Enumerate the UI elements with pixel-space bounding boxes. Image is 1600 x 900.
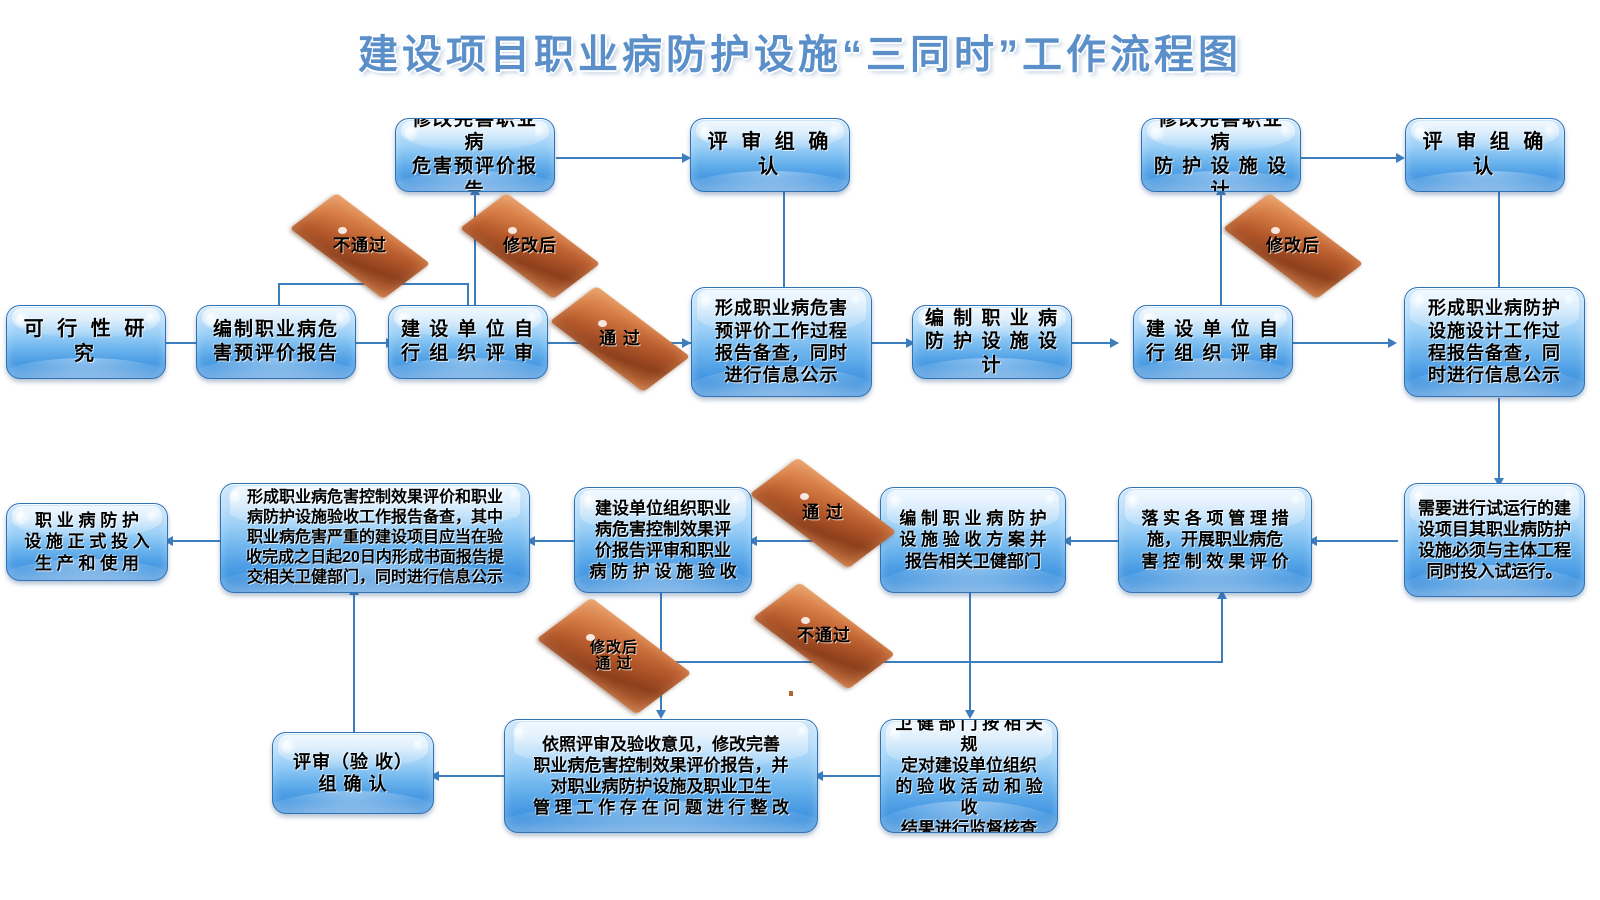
gloss-dot-icon bbox=[1292, 495, 1302, 505]
decision-label: 修改后 bbox=[503, 237, 557, 256]
gloss-dot-icon bbox=[1046, 495, 1056, 505]
gloss-dot-icon bbox=[890, 495, 903, 508]
node-feasibility[interactable]: 可 行 性 研 究 bbox=[6, 305, 166, 379]
connector-line bbox=[1301, 157, 1401, 159]
node-label: 职 业 病 防 护 设 施 正 式 投 入 生 产 和 使 用 bbox=[18, 510, 156, 573]
node-preassessment-archive[interactable]: 形成职业病危害 预评价工作过程 报告备查，同时 进行信息公示 bbox=[691, 287, 872, 397]
node-label: 可 行 性 研 究 bbox=[7, 317, 165, 367]
connector-line bbox=[1293, 342, 1395, 344]
node-label: 编 制 职 业 病 防 护 设 施 验 收 方 案 并 报告相关卫健部门 bbox=[893, 508, 1052, 571]
connector-line bbox=[783, 192, 785, 297]
node-label: 评 审 组 确 认 bbox=[691, 130, 849, 180]
decision-label: 通 过 bbox=[802, 504, 844, 523]
flowchart-canvas: 建设项目职业病防护设施“三同时”工作流程图 bbox=[0, 0, 1600, 900]
diamond-specular-icon bbox=[508, 227, 517, 234]
connector-line bbox=[818, 775, 880, 777]
node-label: 评 审 组 确 认 bbox=[1406, 130, 1564, 180]
node-label: 卫 健 部 门 按 相 关 规 定对建设单位组织 的 验 收 活 动 和 验 收… bbox=[881, 719, 1057, 833]
connector-line bbox=[969, 592, 971, 715]
connector-line bbox=[660, 661, 1223, 663]
gloss-dot-icon bbox=[1128, 495, 1141, 508]
node-org-acceptance[interactable]: 建设单位组织职业 病危害控制效果评 价报告评审和职业 病 防 护 设 施 验 收 bbox=[574, 487, 752, 593]
node-label: 建 设 单 位 自 行 组 织 评 审 bbox=[395, 318, 541, 365]
decision-pass-2[interactable]: 通 过 bbox=[762, 483, 884, 543]
arrow-head bbox=[965, 710, 975, 719]
arrow-head bbox=[1388, 338, 1397, 348]
node-design-archive[interactable]: 形成职业病防护 设施设计工作过 程报告备查，同 时进行信息公示 bbox=[1404, 287, 1585, 397]
node-label: 形成职业病危害控制效果评价和职业 病防护设施验收工作报告备查，其中 职业病危害严… bbox=[240, 488, 510, 587]
decision-after-revise-pass[interactable]: 修改后 通 过 bbox=[552, 622, 676, 690]
diamond-specular-icon bbox=[1271, 227, 1280, 234]
node-review-group-confirm-1[interactable]: 评 审 组 确 认 bbox=[690, 118, 850, 192]
node-label: 形成职业病危害 预评价工作过程 报告备查，同时 进行信息公示 bbox=[709, 297, 854, 386]
diamond-specular-icon bbox=[801, 617, 810, 624]
decision-label: 不通过 bbox=[797, 627, 851, 646]
node-label: 建 设 单 位 自 行 组 织 评 审 bbox=[1140, 318, 1286, 365]
node-label: 建设单位组织职业 病危害控制效果评 价报告评审和职业 病 防 护 设 施 验 收 bbox=[583, 498, 742, 582]
arrow-head bbox=[656, 710, 666, 719]
node-health-dept-supervise[interactable]: 卫 健 部 门 按 相 关 规 定对建设单位组织 的 验 收 活 动 和 验 收… bbox=[880, 719, 1058, 833]
diamond-specular-icon bbox=[800, 493, 809, 500]
node-revise-preassessment[interactable]: 修改完善职业病 危害预评价报告 bbox=[395, 118, 555, 192]
arrow-head bbox=[682, 338, 691, 348]
connector-line bbox=[434, 775, 504, 777]
node-label: 依照评审及验收意见，修改完善 职业病危害控制效果评价报告，并 对职业病防护设施及… bbox=[527, 734, 795, 818]
node-label: 形成职业病防护 设施设计工作过 程报告备查，同 时进行信息公示 bbox=[1422, 297, 1567, 386]
node-final-archive[interactable]: 形成职业病危害控制效果评价和职业 病防护设施验收工作报告备查，其中 职业病危害严… bbox=[220, 483, 530, 593]
decision-fail-1[interactable]: 不通过 bbox=[302, 217, 418, 275]
connector-line bbox=[1312, 540, 1398, 542]
decision-label: 通 过 bbox=[599, 330, 641, 349]
node-design-facility[interactable]: 编 制 职 业 病 防 护 设 施 设 计 bbox=[912, 305, 1072, 379]
node-acceptance-plan[interactable]: 编 制 职 业 病 防 护 设 施 验 收 方 案 并 报告相关卫健部门 bbox=[880, 487, 1066, 593]
connector-line bbox=[1498, 192, 1500, 297]
node-control-effect[interactable]: 落 实 各 项 管 理 措 施，开展职业病危 害 控 制 效 果 评 价 bbox=[1118, 487, 1312, 593]
node-label: 需要进行试运行的建 设项目其职业病防护 设施必须与主体工程 同时投入试运行。 bbox=[1412, 498, 1577, 582]
connector-line bbox=[1498, 398, 1500, 483]
decision-label: 修改后 通 过 bbox=[590, 640, 638, 673]
node-self-review-2[interactable]: 建 设 单 位 自 行 组 织 评 审 bbox=[1133, 305, 1293, 379]
decision-after-revise-2[interactable]: 修改后 bbox=[1235, 217, 1351, 275]
decision-label: 不通过 bbox=[333, 237, 387, 256]
connector-line bbox=[530, 540, 574, 542]
node-label: 编 制 职 业 病 防 护 设 施 设 计 bbox=[913, 307, 1071, 378]
node-prepare-preassessment[interactable]: 编制职业病危 害预评价报告 bbox=[196, 305, 356, 379]
diamond-specular-icon bbox=[338, 227, 347, 234]
gloss-dot-icon bbox=[510, 491, 520, 501]
connector-line bbox=[1066, 540, 1118, 542]
node-review-acceptance-confirm[interactable]: 评审（验 收） 组 确 认 bbox=[272, 732, 434, 814]
diamond-specular-icon bbox=[598, 320, 607, 327]
connector-line bbox=[1220, 192, 1222, 317]
node-formal-use[interactable]: 职 业 病 防 护 设 施 正 式 投 入 生 产 和 使 用 bbox=[6, 503, 168, 581]
connector-line bbox=[556, 157, 687, 159]
node-label: 落 实 各 项 管 理 措 施，开展职业病危 害 控 制 效 果 评 价 bbox=[1135, 508, 1294, 571]
decision-pass-1[interactable]: 通 过 bbox=[562, 310, 678, 368]
gloss-dot-icon bbox=[798, 727, 808, 737]
connector-line bbox=[168, 540, 220, 542]
node-revise-design[interactable]: 修改完善职业病 防 护 设 施 设 计 bbox=[1141, 118, 1301, 192]
node-rectify[interactable]: 依照评审及验收意见，修改完善 职业病危害控制效果评价报告，并 对职业病防护设施及… bbox=[504, 719, 818, 833]
gloss-dot-icon bbox=[514, 727, 527, 740]
gloss-dot-icon bbox=[414, 740, 424, 750]
node-label: 评审（验 收） 组 确 认 bbox=[287, 751, 419, 796]
connector-line bbox=[1221, 596, 1223, 662]
node-label: 编制职业病危 害预评价报告 bbox=[207, 318, 345, 365]
decision-after-revise-1[interactable]: 修改后 bbox=[472, 217, 588, 275]
diamond-specular-icon bbox=[586, 634, 595, 641]
connector-line bbox=[353, 592, 355, 732]
node-label: 修改完善职业病 危害预评价报告 bbox=[396, 118, 554, 192]
page-title: 建设项目职业病防护设施“三同时”工作流程图 bbox=[0, 22, 1600, 80]
node-review-group-confirm-2[interactable]: 评 审 组 确 认 bbox=[1405, 118, 1565, 192]
node-self-review-1[interactable]: 建 设 单 位 自 行 组 织 评 审 bbox=[388, 305, 548, 379]
node-trial-run[interactable]: 需要进行试运行的建 设项目其职业病防护 设施必须与主体工程 同时投入试运行。 bbox=[1404, 483, 1585, 597]
decision-fail-2[interactable]: 不通过 bbox=[765, 607, 883, 665]
arrow-head bbox=[1396, 153, 1405, 163]
decision-label: 修改后 bbox=[1266, 237, 1320, 256]
arrow-head bbox=[1110, 338, 1119, 348]
node-label: 修改完善职业病 防 护 设 施 设 计 bbox=[1142, 118, 1300, 192]
artifact-speck bbox=[789, 691, 793, 696]
